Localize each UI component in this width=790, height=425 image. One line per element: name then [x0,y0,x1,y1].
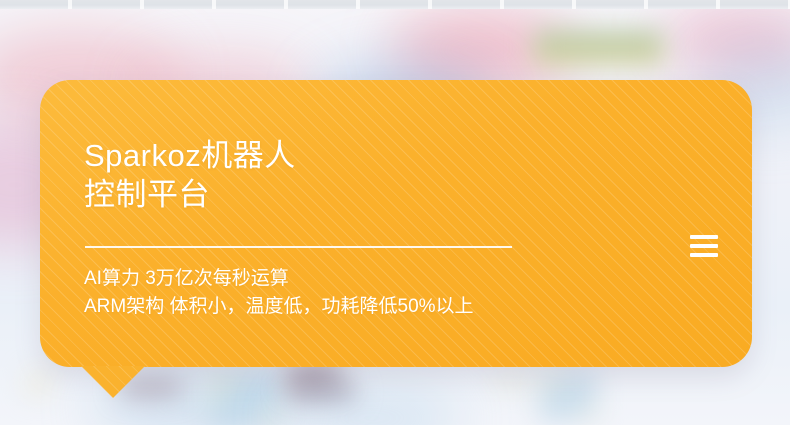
hamburger-bar-middle [690,244,718,248]
hero-banner-card: Sparkoz机器人 控制平台 AI算力 3万亿次每秒运算 ARM架构 体积小，… [40,80,752,367]
top-edge-strip [0,0,790,9]
specs-subtitle: AI算力 3万亿次每秒运算 ARM架构 体积小，温度低，功耗降低50%以上 [84,265,474,321]
hamburger-bar-bottom [690,253,718,257]
speech-bubble-tail [81,366,145,398]
title-divider [85,246,512,248]
screen-root: Sparkoz机器人 控制平台 AI算力 3万亿次每秒运算 ARM架构 体积小，… [0,0,790,425]
page-title: Sparkoz机器人 控制平台 [84,136,296,214]
hamburger-bar-top [690,235,718,239]
hamburger-menu-icon[interactable] [684,230,724,262]
